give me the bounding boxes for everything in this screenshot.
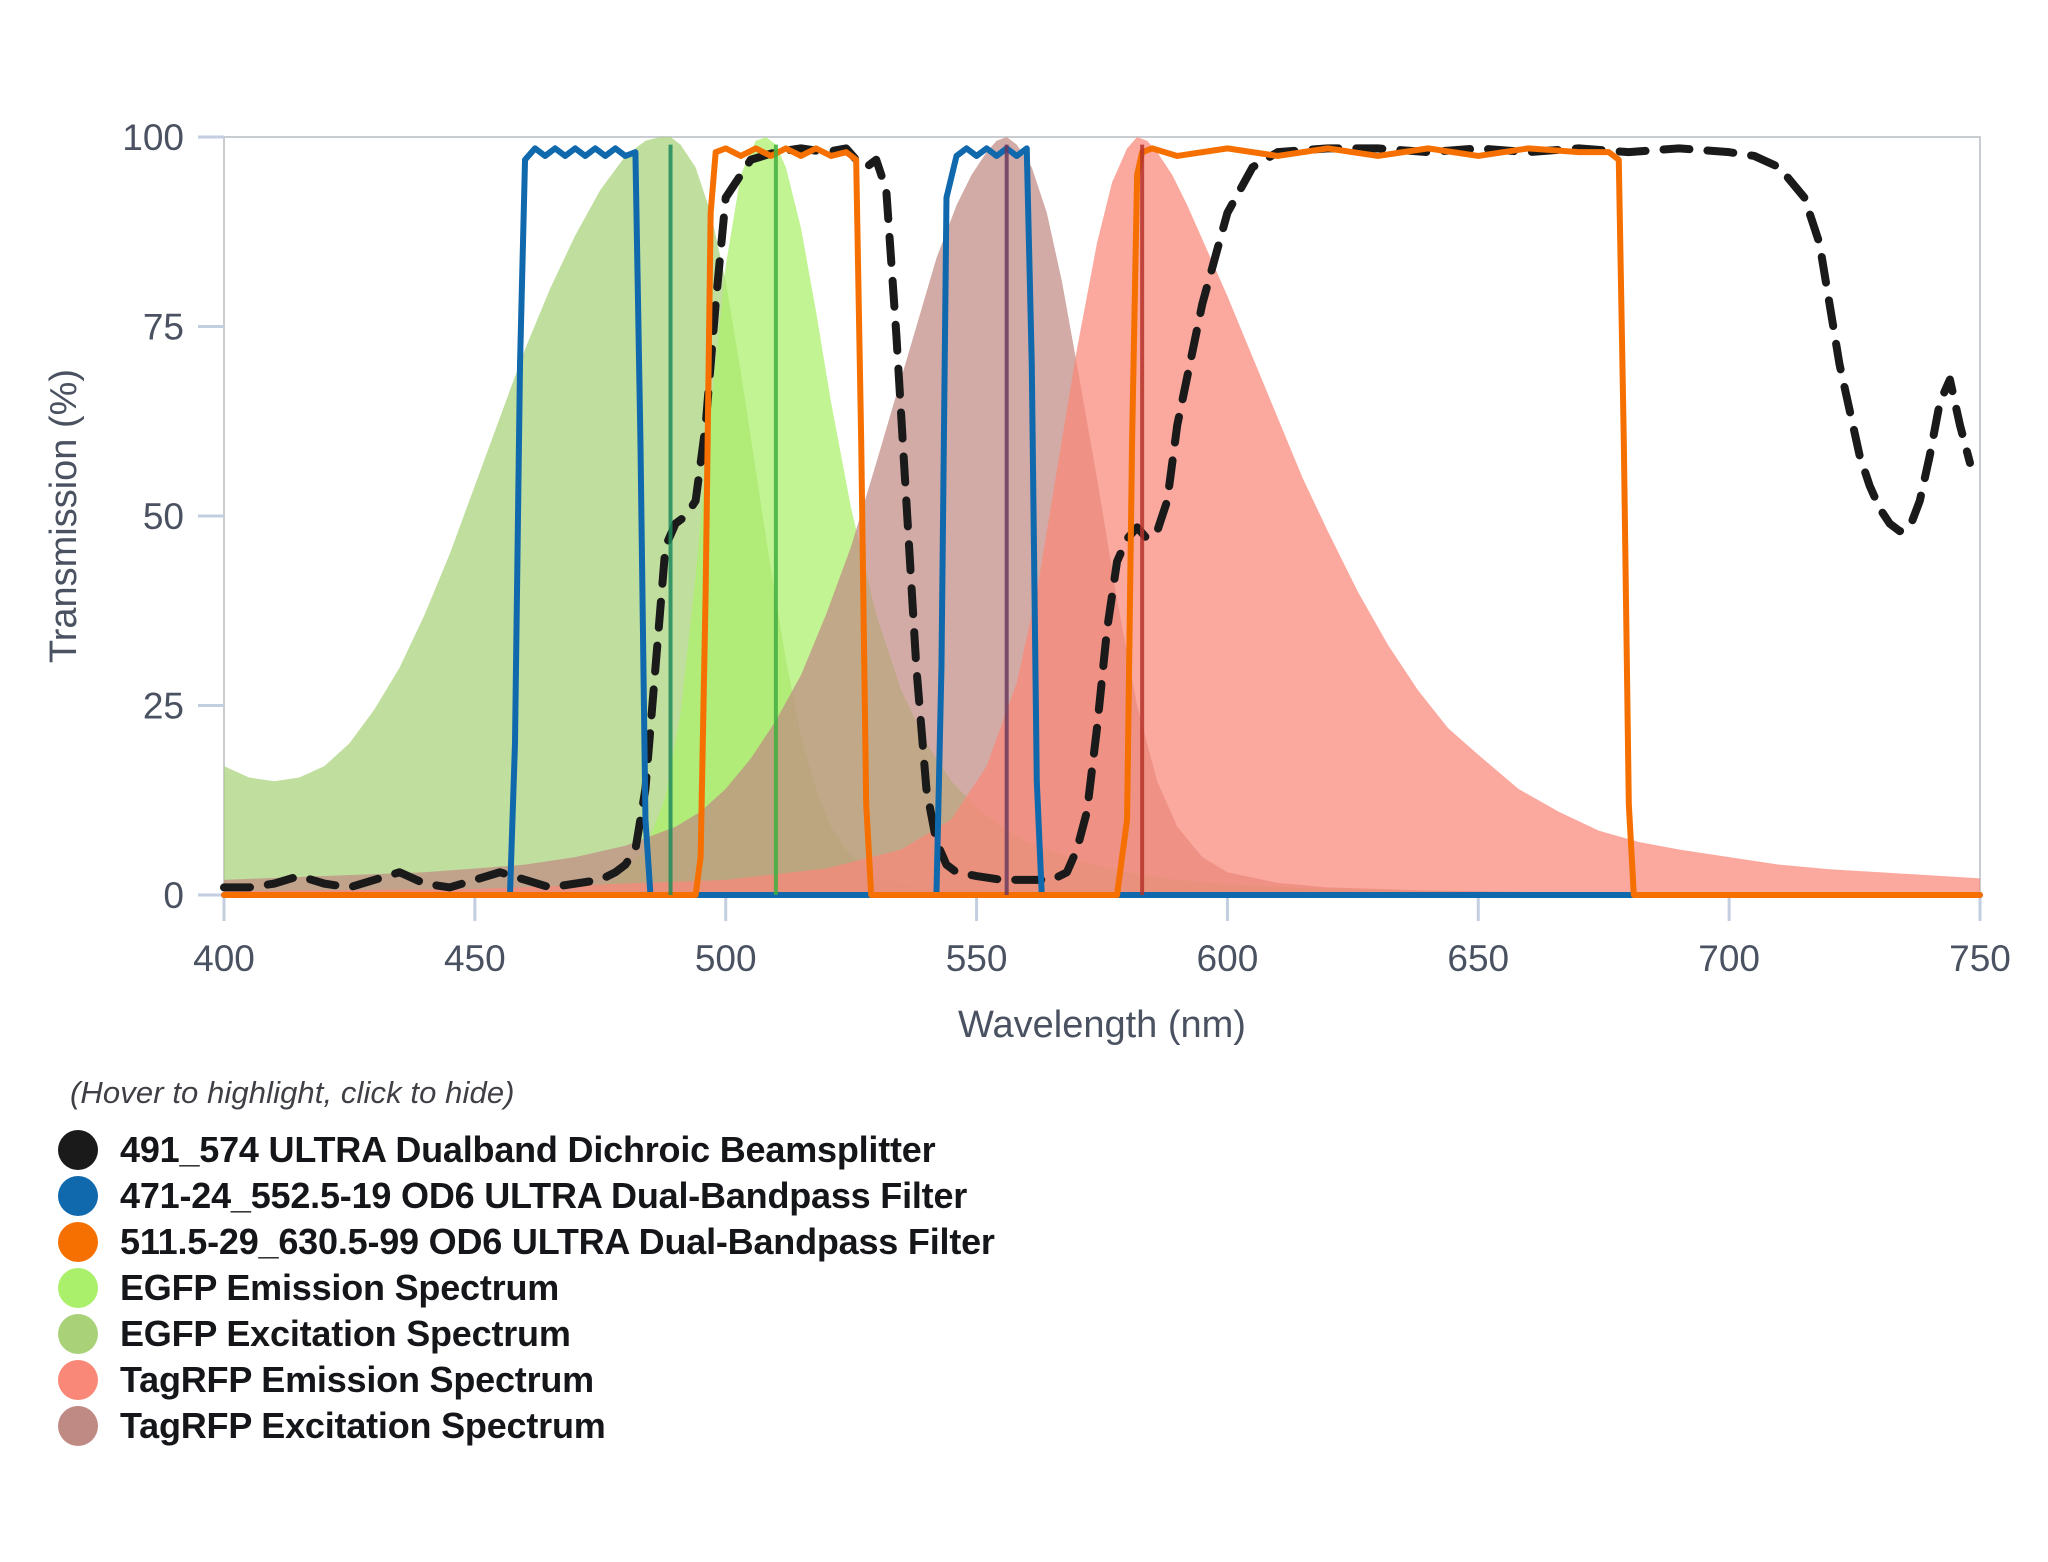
legend-item-dichroic[interactable]: 491_574 ULTRA Dualband Dichroic Beamspli… bbox=[58, 1127, 2048, 1173]
legend-list: 491_574 ULTRA Dualband Dichroic Beamspli… bbox=[0, 1127, 2048, 1449]
legend-item-tagrfp_em[interactable]: TagRFP Emission Spectrum bbox=[58, 1357, 2048, 1403]
x-tick-label: 600 bbox=[1197, 938, 1259, 979]
x-tick-label: 750 bbox=[1949, 938, 2011, 979]
y-tick-label: 0 bbox=[163, 875, 184, 916]
legend-label-tagrfp_em: TagRFP Emission Spectrum bbox=[120, 1359, 594, 1401]
x-tick-label: 700 bbox=[1698, 938, 1760, 979]
y-tick-label: 75 bbox=[143, 307, 184, 348]
y-axis-title: Transmission (%) bbox=[43, 369, 85, 663]
y-tick-label: 50 bbox=[143, 496, 184, 537]
legend-label-blue_filter: 471-24_552.5-19 OD6 ULTRA Dual-Bandpass … bbox=[120, 1175, 967, 1217]
y-tick-label: 25 bbox=[143, 686, 184, 727]
legend-item-tagrfp_ex[interactable]: TagRFP Excitation Spectrum bbox=[58, 1403, 2048, 1449]
x-tick-label: 650 bbox=[1447, 938, 1509, 979]
legend-label-orange_filter: 511.5-29_630.5-99 OD6 ULTRA Dual-Bandpas… bbox=[120, 1221, 995, 1263]
y-tick-label: 100 bbox=[122, 117, 184, 158]
legend-label-tagrfp_ex: TagRFP Excitation Spectrum bbox=[120, 1405, 606, 1447]
legend-label-dichroic: 491_574 ULTRA Dualband Dichroic Beamspli… bbox=[120, 1129, 935, 1171]
x-tick-label: 550 bbox=[946, 938, 1008, 979]
legend-swatch-dichroic bbox=[58, 1130, 98, 1170]
legend-item-egfp_ex[interactable]: EGFP Excitation Spectrum bbox=[58, 1311, 2048, 1357]
x-tick-label: 400 bbox=[193, 938, 255, 979]
legend-swatch-orange_filter bbox=[58, 1222, 98, 1262]
legend-swatch-blue_filter bbox=[58, 1176, 98, 1216]
chart-svg: 0255075100400450500550600650700750Wavele… bbox=[0, 0, 2048, 1060]
legend-swatch-tagrfp_ex bbox=[58, 1406, 98, 1446]
legend-label-egfp_ex: EGFP Excitation Spectrum bbox=[120, 1313, 571, 1355]
x-axis-title: Wavelength (nm) bbox=[958, 1004, 1246, 1046]
legend-item-blue_filter[interactable]: 471-24_552.5-19 OD6 ULTRA Dual-Bandpass … bbox=[58, 1173, 2048, 1219]
legend: (Hover to highlight, click to hide) 491_… bbox=[0, 1075, 2048, 1449]
legend-swatch-tagrfp_em bbox=[58, 1360, 98, 1400]
spectra-chart: 0255075100400450500550600650700750Wavele… bbox=[0, 0, 2048, 1060]
legend-item-egfp_em[interactable]: EGFP Emission Spectrum bbox=[58, 1265, 2048, 1311]
legend-swatch-egfp_em bbox=[58, 1268, 98, 1308]
legend-label-egfp_em: EGFP Emission Spectrum bbox=[120, 1267, 559, 1309]
legend-hint: (Hover to highlight, click to hide) bbox=[70, 1075, 2048, 1111]
legend-swatch-egfp_ex bbox=[58, 1314, 98, 1354]
x-tick-label: 500 bbox=[695, 938, 757, 979]
legend-item-orange_filter[interactable]: 511.5-29_630.5-99 OD6 ULTRA Dual-Bandpas… bbox=[58, 1219, 2048, 1265]
x-tick-label: 450 bbox=[444, 938, 506, 979]
